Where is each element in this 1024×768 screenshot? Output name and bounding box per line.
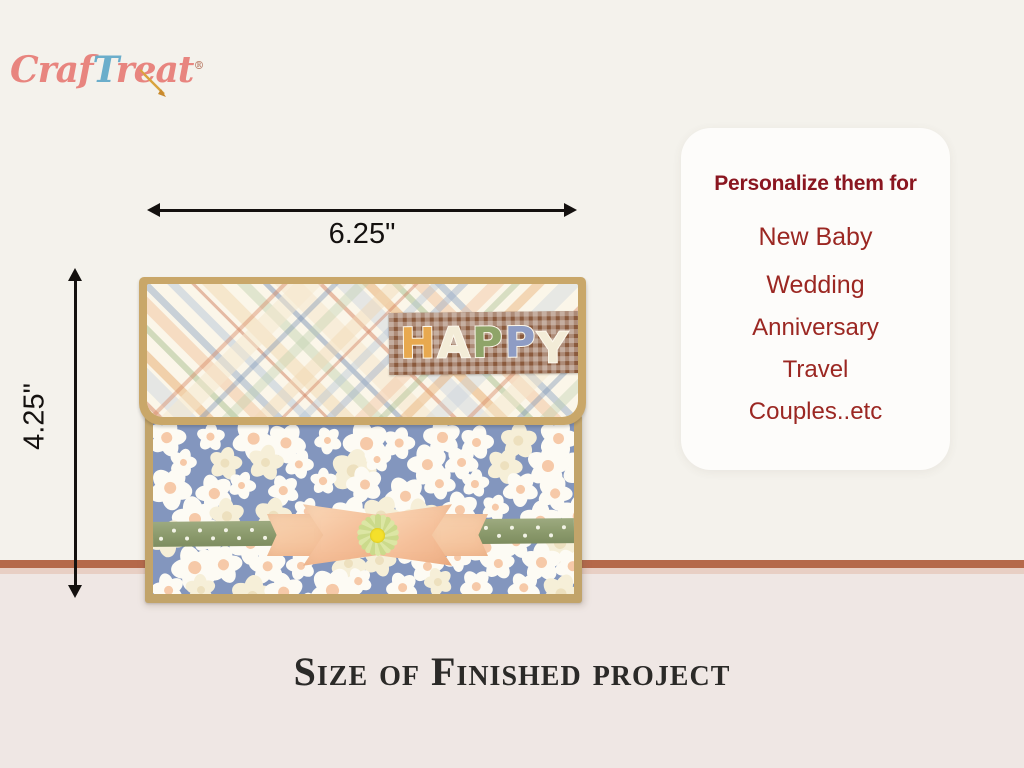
bow-center-flower — [356, 513, 400, 557]
personalize-occasion-list: New Baby Wedding Anniversary Travel Coup… — [749, 216, 882, 433]
personalize-card-title: Personalize them for — [714, 172, 917, 196]
paper-bow — [275, 500, 480, 570]
logo-registered-mark: ® — [193, 59, 203, 72]
page-caption: Size of Finished project — [0, 648, 1024, 695]
happy-letter-y: Y — [537, 327, 568, 369]
happy-letter-p1: P — [472, 322, 503, 364]
happy-letter-p2: P — [504, 321, 535, 363]
envelope-flap-pattern: H A P P Y — [147, 284, 578, 417]
happy-letter-h: H — [400, 323, 436, 365]
arrow-head-right — [564, 203, 577, 217]
envelope-flap: H A P P Y — [139, 277, 586, 425]
craftreat-logo: CrafTreat® — [10, 40, 195, 92]
arrow-shaft-vertical — [74, 278, 77, 588]
happy-label: H A P P Y — [389, 311, 578, 375]
list-item: Travel — [783, 358, 849, 382]
logo-text-t: T — [92, 49, 115, 91]
screenshot-stage: CrafTreat® 6.25" 4.25" — [0, 0, 1024, 768]
personalize-card: Personalize them for New Baby Wedding An… — [681, 128, 950, 470]
happy-letter-group: H A P P Y — [389, 311, 578, 375]
logo-text-reat: reat — [116, 49, 194, 91]
list-item: New Baby — [759, 225, 873, 250]
list-item: Wedding — [766, 273, 864, 298]
logo-wordmark: CrafTreat® — [10, 40, 195, 96]
width-dimension-label: 6.25" — [147, 218, 577, 251]
list-item: Anniversary — [752, 316, 879, 340]
arrow-shaft-horizontal — [157, 209, 567, 212]
happy-letter-a: A — [437, 322, 470, 364]
envelope-body-pattern — [153, 422, 574, 594]
logo-text-craf: Craf — [10, 49, 92, 91]
list-item: Couples..etc — [749, 400, 882, 424]
finished-project-envelope: H A P P Y — [139, 277, 586, 607]
arrow-head-bottom — [68, 585, 82, 598]
envelope-body — [145, 415, 582, 603]
flower-center-yolk — [370, 528, 385, 543]
height-dimension-label: 4.25" — [19, 337, 52, 497]
height-dimension-arrow — [68, 268, 82, 598]
width-dimension-arrow — [147, 203, 577, 217]
